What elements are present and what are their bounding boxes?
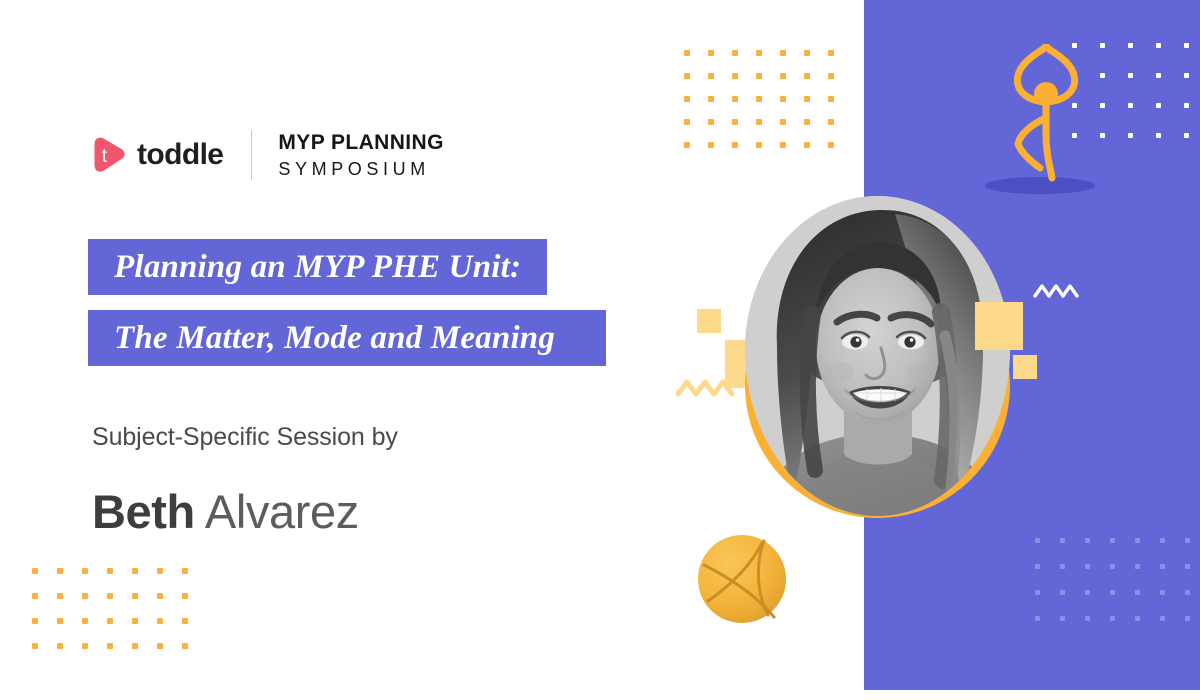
slide-canvas: t toddle MYP PLANNING SYMPOSIUM Planning… xyxy=(0,0,1200,700)
speaker-first-name: Beth xyxy=(92,485,195,538)
session-type-label: Subject-Specific Session by xyxy=(92,423,398,452)
brand-divider xyxy=(251,130,252,180)
event-name-line2: SYMPOSIUM xyxy=(278,159,443,181)
speaker-last-name: Alvarez xyxy=(205,485,359,538)
session-title-line2-bar: The Matter, Mode and Meaning xyxy=(88,310,606,366)
toddle-wordmark: toddle xyxy=(137,140,223,170)
accent-square-small-right xyxy=(1013,355,1037,379)
brand-lockup: t toddle MYP PLANNING SYMPOSIUM xyxy=(88,130,444,181)
session-title-line1: Planning an MYP PHE Unit: xyxy=(114,249,521,286)
dot-grid-icon-bottom-right xyxy=(1035,538,1200,642)
accent-square-small-left xyxy=(697,309,721,333)
dot-grid-icon-bottom-left xyxy=(32,568,207,668)
avatar xyxy=(745,196,1010,516)
session-title-line2: The Matter, Mode and Meaning xyxy=(114,320,555,357)
event-name-line1: MYP PLANNING xyxy=(278,130,443,156)
session-title-line1-bar: Planning an MYP PHE Unit: xyxy=(88,239,547,295)
zigzag-icon-right xyxy=(1033,283,1079,299)
dot-grid-icon-top-left xyxy=(684,50,852,165)
yoga-tree-pose-icon xyxy=(996,44,1096,184)
speaker-name: Beth Alvarez xyxy=(92,484,359,539)
basketball-icon xyxy=(694,531,790,627)
accent-square-large-right xyxy=(975,302,1023,350)
headshot-photo xyxy=(745,196,1010,516)
toddle-logo-letter: t xyxy=(102,146,108,167)
toddle-play-mark-icon: t xyxy=(88,135,128,175)
event-name: MYP PLANNING SYMPOSIUM xyxy=(278,130,443,181)
